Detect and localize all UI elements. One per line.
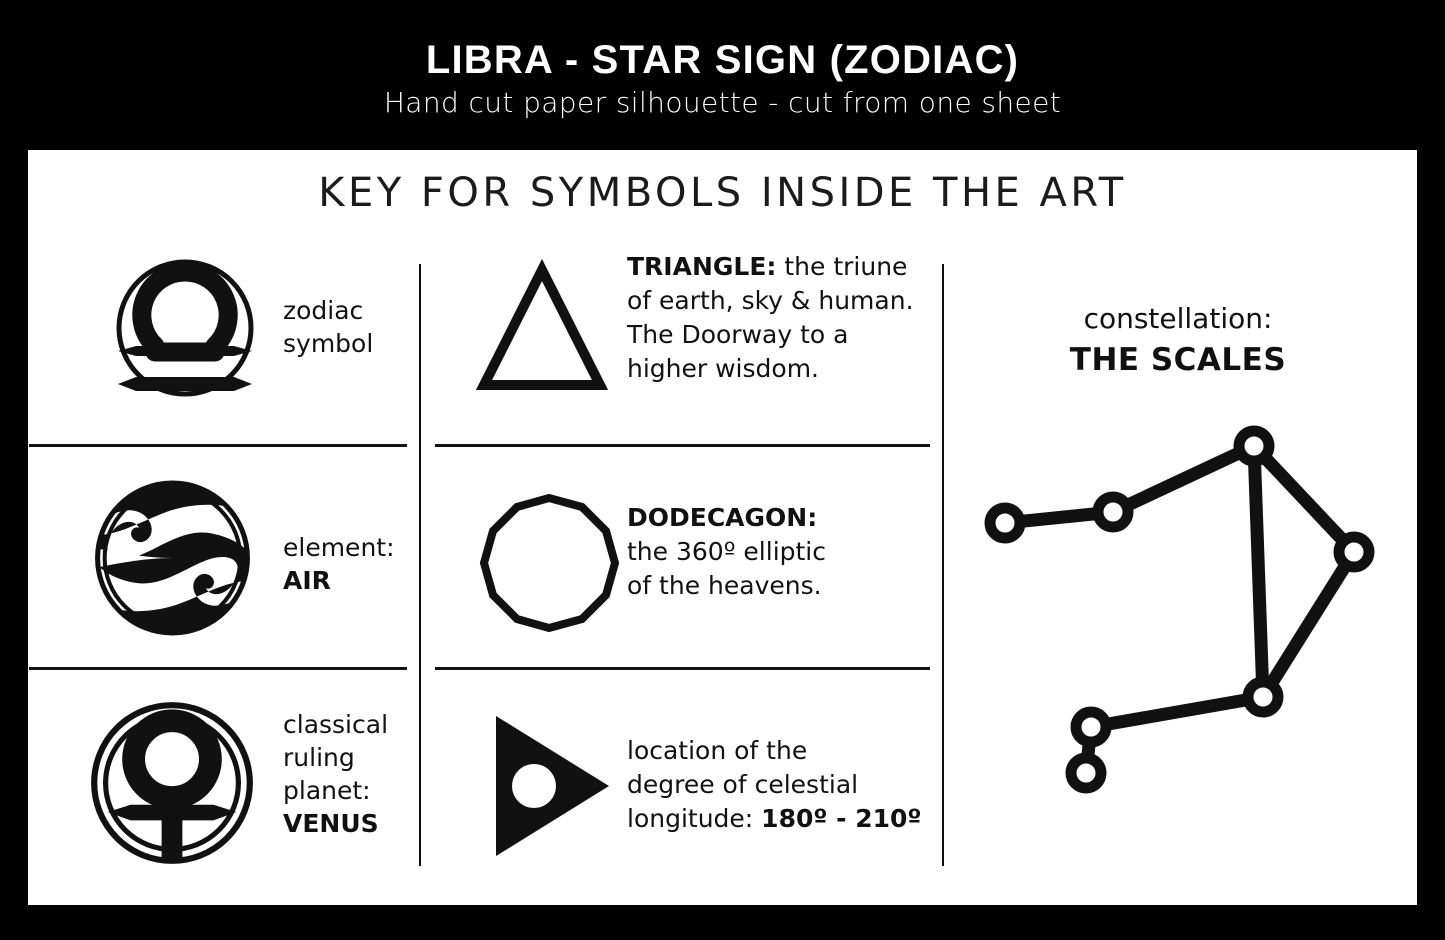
ruling-planet-label-line1: classical: [283, 708, 418, 741]
triangle-term: TRIANGLE:: [627, 252, 776, 281]
dodecagon-line-2: the 360º elliptic: [627, 535, 967, 569]
longitude-range-value: 180º - 210º: [761, 804, 921, 833]
constellation-star: [1098, 497, 1128, 527]
divider-horizontal-col1-row1: [29, 444, 407, 447]
key-row-celestial-longitude: location of the degree of celestial long…: [435, 700, 942, 890]
ruling-planet-label: classical ruling planet: VENUS: [283, 708, 418, 840]
key-row-zodiac-symbol: zodiac symbol: [28, 250, 419, 444]
key-row-triangle: TRIANGLE: the triune of earth, sky & hum…: [435, 250, 942, 444]
zodiac-symbol-label-line2: symbol: [283, 327, 413, 360]
longitude-line-3-prefix: longitude:: [627, 804, 761, 833]
key-row-element-air: element: AIR: [28, 477, 419, 667]
dodecagon-outline-icon: [478, 491, 620, 633]
constellation-link: [1254, 446, 1354, 552]
divider-vertical-left: [419, 264, 421, 866]
triangle-outline-icon: [475, 257, 610, 397]
constellation-link: [1254, 446, 1263, 697]
constellation-link: [1113, 446, 1254, 512]
constellation-star: [1071, 758, 1101, 788]
triangle-line-3: The Doorway to a: [627, 318, 967, 352]
ruling-planet-label-value: VENUS: [283, 807, 418, 840]
longitude-marker-triangle-icon: [490, 710, 615, 862]
constellation-links: [1005, 446, 1354, 773]
ruling-planet-label-line2: ruling: [283, 741, 418, 774]
key-column-constellation: constellation: THE SCALES: [958, 270, 1417, 890]
constellation-link: [1263, 552, 1354, 697]
key-row-dodecagon: DODECAGON: the 360º elliptic of the heav…: [435, 477, 942, 667]
constellation-star: [1339, 537, 1369, 567]
constellation-star: [990, 508, 1020, 538]
divider-horizontal-col1-row2: [29, 667, 407, 670]
libra-zodiac-symbol-icon: [100, 250, 270, 410]
triangle-line-1: TRIANGLE: the triune: [627, 250, 967, 284]
dodecagon-term: DODECAGON:: [627, 503, 817, 532]
element-label-line1: element:: [283, 531, 413, 564]
element-label: element: AIR: [283, 531, 413, 597]
dodecagon-term-line: DODECAGON:: [627, 501, 967, 535]
ruling-planet-label-line3: planet:: [283, 774, 418, 807]
key-panel-title: KEY FOR SYMBOLS INSIDE THE ART: [28, 170, 1417, 216]
key-row-ruling-planet: classical ruling planet: VENUS: [28, 700, 419, 890]
constellation-star: [1076, 712, 1106, 742]
poster-canvas: LIBRA - STAR SIGN (ZODIAC) Hand cut pape…: [0, 0, 1445, 940]
key-panel: KEY FOR SYMBOLS INSIDE THE ART zodiac sy…: [28, 150, 1417, 905]
constellation-star: [1248, 682, 1278, 712]
constellation-caption-label: constellation:: [958, 300, 1398, 338]
zodiac-symbol-label: zodiac symbol: [283, 294, 413, 360]
element-label-value: AIR: [283, 564, 413, 597]
triangle-line-1-rest: the triune: [776, 252, 907, 281]
longitude-line-2: degree of celestial: [627, 768, 977, 802]
constellation-link: [1091, 697, 1263, 727]
constellation-star: [1239, 431, 1269, 461]
divider-horizontal-col2-row1: [435, 444, 930, 447]
venus-planet-symbol-icon: [88, 700, 256, 866]
air-element-swirl-icon: [90, 477, 255, 639]
triangle-description: TRIANGLE: the triune of earth, sky & hum…: [627, 250, 967, 386]
longitude-line-1: location of the: [627, 734, 977, 768]
poster-header: LIBRA - STAR SIGN (ZODIAC) Hand cut pape…: [0, 0, 1445, 150]
page-subtitle: Hand cut paper silhouette - cut from one…: [0, 87, 1445, 119]
constellation-name: THE SCALES: [958, 340, 1398, 380]
divider-horizontal-col2-row2: [435, 667, 930, 670]
triangle-line-4: higher wisdom.: [627, 352, 967, 386]
longitude-description: location of the degree of celestial long…: [627, 734, 977, 836]
dodecagon-line-3: of the heavens.: [627, 569, 967, 603]
dodecagon-description: DODECAGON: the 360º elliptic of the heav…: [627, 501, 967, 603]
page-title: LIBRA - STAR SIGN (ZODIAC): [0, 38, 1445, 82]
zodiac-symbol-label-line1: zodiac: [283, 294, 413, 327]
triangle-line-2: of earth, sky & human.: [627, 284, 967, 318]
longitude-line-3: longitude: 180º - 210º: [627, 802, 977, 836]
libra-constellation-diagram: [958, 410, 1417, 870]
